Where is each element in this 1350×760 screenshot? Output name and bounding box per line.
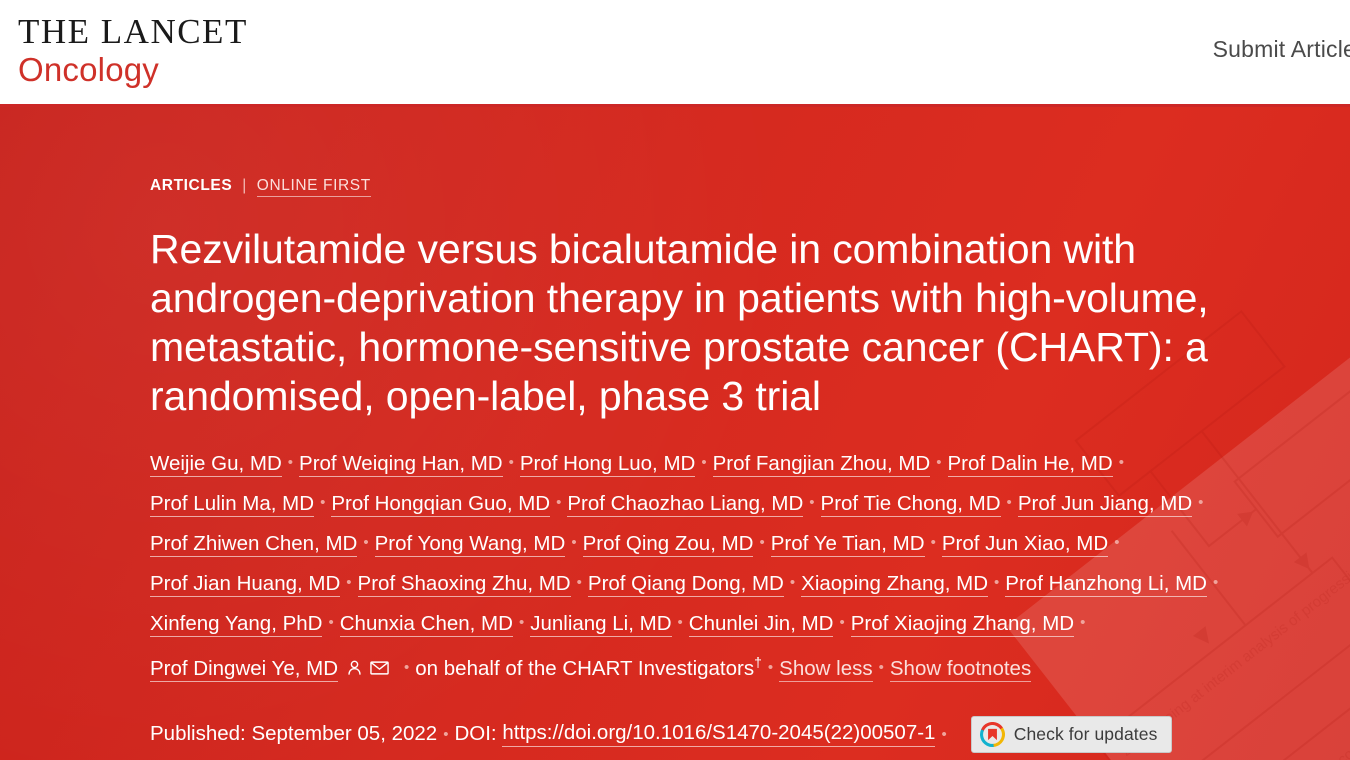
envelope-icon — [370, 659, 389, 677]
author-link[interactable]: Prof Jun Jiang, MD — [1018, 492, 1192, 517]
author-separator-dot: • — [1213, 563, 1218, 602]
submit-article-link[interactable]: Submit Article — [1213, 36, 1350, 62]
doi-label: DOI: — [454, 722, 496, 746]
author-list: Weijie Gu, MD•Prof Weiqing Han, MD•Prof … — [150, 443, 1240, 690]
author-link[interactable]: Prof Hong Luo, MD — [520, 452, 695, 477]
author-link[interactable]: Prof Ye Tian, MD — [771, 532, 925, 557]
author-link[interactable]: Prof Dalin He, MD — [948, 452, 1113, 477]
author-link[interactable]: Weijie Gu, MD — [150, 452, 282, 477]
publication-stage-link[interactable]: ONLINE FIRST — [257, 177, 371, 197]
published-date: September 05, 2022 — [251, 722, 437, 746]
person-icon — [346, 659, 363, 677]
author-separator-dot: • — [328, 603, 333, 642]
corresponding-author-link[interactable]: Prof Dingwei Ye, MD — [150, 657, 338, 682]
published-label: Published: — [150, 722, 246, 746]
author-separator-dot: • — [1007, 483, 1012, 522]
author-separator-dot: • — [519, 603, 524, 642]
author-separator-dot: • — [790, 563, 795, 602]
author-separator-dot: • — [701, 443, 706, 482]
author-link[interactable]: Xiaoping Zhang, MD — [801, 572, 988, 597]
site-header: THE LANCET Oncology Submit Article — [0, 0, 1350, 107]
author-separator-dot: • — [571, 523, 576, 562]
show-less-button[interactable]: Show less — [779, 657, 872, 682]
author-link[interactable]: Prof Jian Huang, MD — [150, 572, 340, 597]
publication-meta: Published: September 05, 2022•DOI: https… — [150, 716, 1350, 753]
author-link[interactable]: Junliang Li, MD — [530, 612, 671, 637]
author-link[interactable]: Prof Chaozhao Liang, MD — [567, 492, 803, 517]
author-separator-dot: • — [678, 603, 683, 642]
author-link[interactable]: Prof Hanzhong Li, MD — [1005, 572, 1207, 597]
author-separator-dot: • — [768, 648, 773, 687]
article-hero: 218 ongoing at interim analysis of progr… — [0, 107, 1350, 760]
author-link[interactable]: Prof Tie Chong, MD — [821, 492, 1001, 517]
group-credit-text: on behalf of the CHART Investigators — [415, 657, 754, 680]
author-separator-dot: • — [809, 483, 814, 522]
author-link[interactable]: Prof Weiqing Han, MD — [299, 452, 503, 477]
author-link[interactable]: Prof Shaoxing Zhu, MD — [358, 572, 571, 597]
author-separator-dot: • — [509, 443, 514, 482]
author-link[interactable]: Chunxia Chen, MD — [340, 612, 513, 637]
author-link[interactable]: Prof Hongqian Guo, MD — [331, 492, 550, 517]
author-link[interactable]: Prof Xiaojing Zhang, MD — [851, 612, 1074, 637]
brand-lancet-text: THE LANCET — [18, 14, 248, 49]
author-link[interactable]: Prof Qiang Dong, MD — [588, 572, 784, 597]
author-separator-dot: • — [839, 603, 844, 642]
show-footnotes-button[interactable]: Show footnotes — [890, 657, 1031, 682]
article-landing-page: THE LANCET Oncology Submit Article — [0, 0, 1350, 760]
author-separator-dot: • — [994, 563, 999, 602]
author-separator-dot: • — [879, 648, 884, 687]
author-link[interactable]: Chunlei Jin, MD — [689, 612, 834, 637]
author-separator-dot: • — [577, 563, 582, 602]
author-link[interactable]: Xinfeng Yang, PhD — [150, 612, 322, 637]
author-separator-dot: • — [1114, 523, 1119, 562]
author-separator-dot: • — [1080, 603, 1085, 642]
author-link[interactable]: Prof Lulin Ma, MD — [150, 492, 314, 517]
article-kicker: ARTICLES | ONLINE FIRST — [150, 177, 1350, 195]
author-affiliation-icons[interactable] — [346, 651, 396, 690]
author-separator-dot: • — [320, 483, 325, 522]
author-link[interactable]: Prof Fangjian Zhou, MD — [713, 452, 931, 477]
author-separator-dot: • — [556, 483, 561, 522]
author-link[interactable]: Prof Qing Zou, MD — [583, 532, 754, 557]
author-separator-dot: • — [1198, 483, 1203, 522]
crossmark-label: Check for updates — [1014, 724, 1158, 745]
author-separator-dot: • — [936, 443, 941, 482]
header-nav: Submit Article — [1213, 0, 1350, 63]
meta-separator-dot: • — [941, 726, 946, 743]
author-separator-dot: • — [346, 563, 351, 602]
author-link[interactable]: Prof Yong Wang, MD — [375, 532, 566, 557]
kicker-separator: | — [242, 177, 247, 194]
author-separator-dot: • — [404, 648, 409, 687]
article-title: Rezvilutamide versus bicalutamide in com… — [150, 225, 1260, 421]
author-link[interactable]: Prof Jun Xiao, MD — [942, 532, 1108, 557]
author-link[interactable]: Prof Zhiwen Chen, MD — [150, 532, 357, 557]
meta-separator-dot: • — [443, 726, 448, 743]
author-separator-dot: • — [363, 523, 368, 562]
brand-oncology-text: Oncology — [18, 53, 248, 86]
author-separator-dot: • — [288, 443, 293, 482]
author-separator-dot: • — [759, 523, 764, 562]
article-type-label[interactable]: ARTICLES — [150, 177, 232, 194]
author-separator-dot: • — [1119, 443, 1124, 482]
crossmark-icon — [980, 722, 1005, 747]
journal-logo[interactable]: THE LANCET Oncology — [0, 0, 248, 86]
footnote-marker[interactable]: † — [754, 654, 762, 670]
crossmark-check-for-updates-button[interactable]: Check for updates — [971, 716, 1173, 753]
doi-link[interactable]: https://doi.org/10.1016/S1470-2045(22)00… — [502, 721, 935, 747]
author-separator-dot: • — [931, 523, 936, 562]
